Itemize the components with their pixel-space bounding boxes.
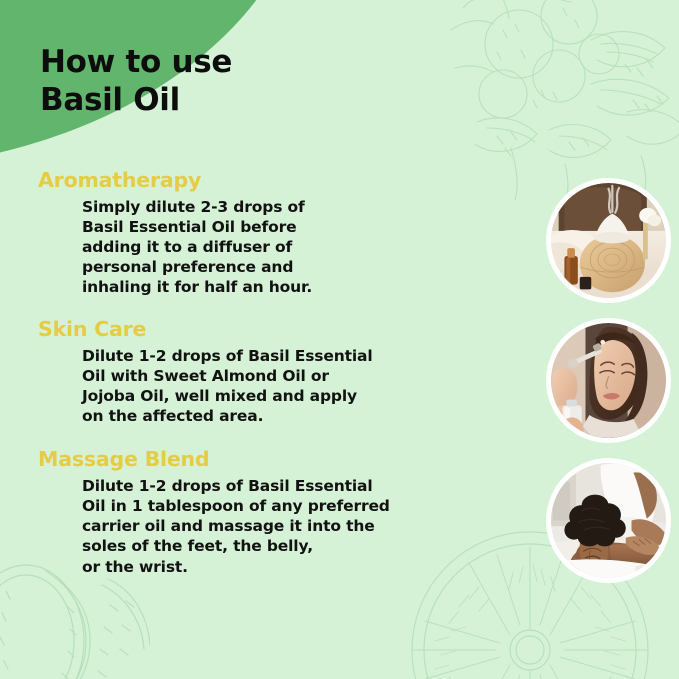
section-heading-aromatherapy: Aromatherapy — [38, 168, 530, 193]
section-heading-skin-care: Skin Care — [38, 317, 530, 342]
section-body-aromatherapy: Simply dilute 2-3 drops of Basil Essenti… — [82, 197, 530, 298]
section-skin-care: Skin Care Dilute 1-2 drops of Basil Esse… — [0, 317, 530, 426]
massage-blend-photo — [546, 458, 671, 583]
page-title: How to use Basil Oil — [40, 44, 232, 120]
section-massage-blend: Massage Blend Dilute 1-2 drops of Basil … — [0, 447, 530, 576]
section-body-skin-care: Dilute 1-2 drops of Basil Essential Oil … — [82, 346, 530, 427]
aromatherapy-diffuser-photo — [546, 178, 671, 303]
instructions-list: Aromatherapy Simply dilute 2-3 drops of … — [0, 168, 530, 577]
section-aromatherapy: Aromatherapy Simply dilute 2-3 drops of … — [0, 168, 530, 297]
skin-care-serum-dropper-photo — [546, 318, 671, 443]
section-heading-massage-blend: Massage Blend — [38, 447, 530, 472]
poster-canvas: How to use Basil Oil Aromatherapy Simply… — [0, 0, 679, 679]
section-body-massage-blend: Dilute 1-2 drops of Basil Essential Oil … — [82, 476, 530, 577]
